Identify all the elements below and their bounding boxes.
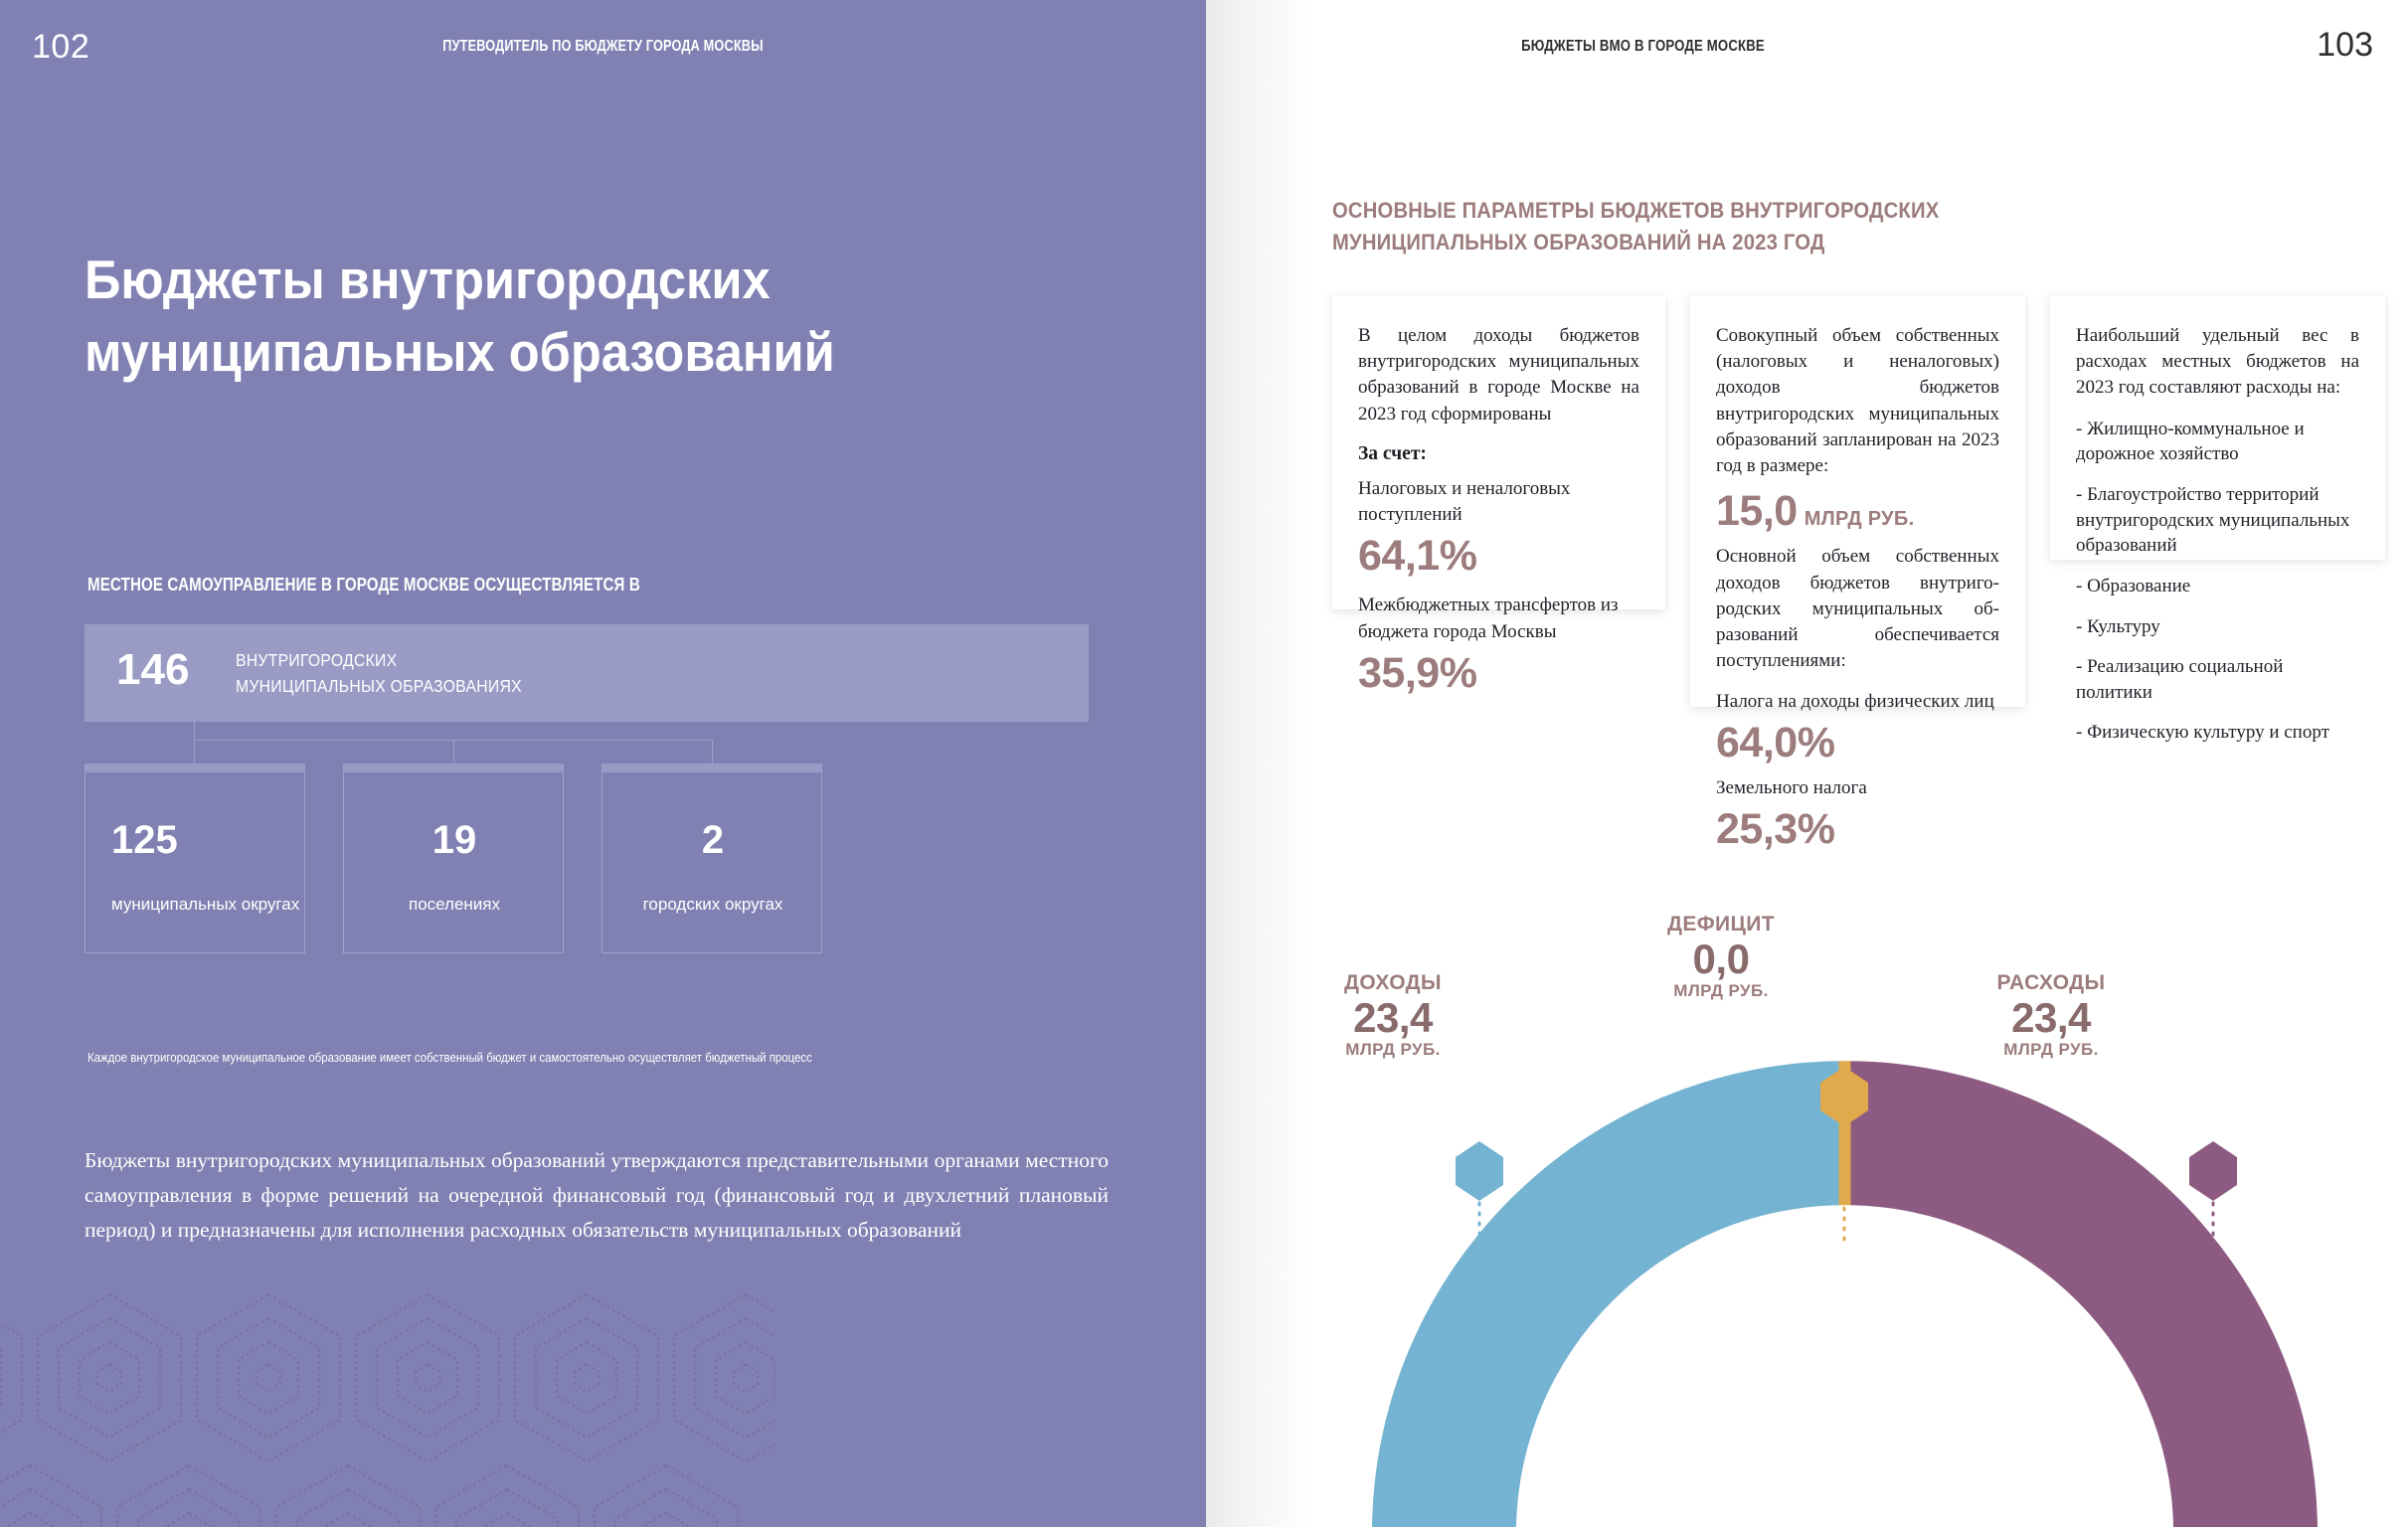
card3-bullet: - Жилищно-коммунальное и дорожное хозяйс… [2076, 417, 2359, 467]
running-head-right: Бюджеты ВМО в городе Москве [1206, 38, 2294, 56]
card-own-revenues: Совокупный объем соб­ственных (налоговых… [1690, 295, 2025, 707]
info-cards: В целом доходы бюджетов внутригородских … [1332, 295, 2366, 912]
node-number: 19 [344, 820, 565, 860]
card2-amount-row: 15,0млрд руб. [1716, 489, 1999, 534]
card2-item2-value: 25,3% [1716, 807, 1999, 852]
left-body-paragraph: Бюджеты внутригородских муниципальных об… [85, 1143, 1109, 1247]
top-node-label-line2: Муниципальных образованиях [236, 673, 522, 699]
top-node-label-line1: Внутригородских [236, 647, 522, 673]
diagram-node-poselenie: 19 поселениях [343, 771, 564, 953]
node-number: 125 [111, 820, 178, 860]
top-node-number: 146 [116, 648, 189, 692]
diagram-node-gorodskoy-okrug: 2 городских округах [602, 771, 822, 953]
card3-bullet: - Физическую культуру и спорт [2076, 720, 2359, 746]
chart-label-income-unit: МЛРД РУБ. [1274, 1040, 1512, 1060]
chart-label-deficit-name: ДЕФИЦИТ [1602, 913, 1840, 936]
connector-branch-2 [453, 740, 454, 763]
budget-donut-chart: ДОХОДЫ 23,4 МЛРД РУБ. ДЕФИЦИТ 0,0 МЛРД Р… [1206, 925, 2408, 1527]
card1-item2-label: Межбюджетных трансфертов из бюджета горо… [1358, 593, 1639, 644]
chart-label-expenditure-value: 23,4 [1932, 995, 2170, 1040]
card1-bold-label: За счет: [1358, 443, 1639, 465]
chart-label-expenditure-unit: МЛРД РУБ. [1932, 1040, 2170, 1060]
hexagon-marker-income [1456, 1141, 1503, 1201]
donut-slice-income [1372, 1061, 1839, 1527]
node-label: городских округах [602, 892, 823, 918]
card1-intro: В целом доходы бюджетов внутригородских … [1358, 323, 1639, 427]
card-total-income: В целом доходы бюджетов внутригородских … [1332, 295, 1665, 609]
page-number-right: 103 [2317, 26, 2373, 65]
card3-intro: Наибольший удельный вес в расходах местн… [2076, 323, 2359, 402]
chart-label-expenditure: РАСХОДЫ 23,4 МЛРД РУБ. [1932, 971, 2170, 1060]
card-main-expenditures: Наибольший удельный вес в расходах местн… [2050, 295, 2385, 560]
chart-label-income: ДОХОДЫ 23,4 МЛРД РУБ. [1274, 971, 1512, 1060]
node-label: муниципальных округах [111, 892, 300, 918]
chart-label-expenditure-name: РАСХОДЫ [1932, 971, 2170, 995]
section-heading: Основные параметры бюджетов внутригородс… [1332, 195, 1959, 258]
card2-item1-value: 64,0% [1716, 721, 1999, 765]
connector-branch-1 [194, 740, 195, 763]
chart-label-deficit-value: 0,0 [1602, 936, 1840, 981]
diagram-node-municipal-okrug: 125 муниципальных округах [85, 771, 305, 953]
card3-bullet: - Реализацию социальной политики [2076, 654, 2359, 705]
card3-bullet: - Образование [2076, 574, 2359, 599]
node-cap [343, 763, 564, 772]
chart-label-deficit: ДЕФИЦИТ 0,0 МЛРД РУБ. [1602, 913, 1840, 1001]
connector-branch-3 [712, 740, 713, 763]
chart-label-income-value: 23,4 [1274, 995, 1512, 1040]
card1-item2-value: 35,9% [1358, 651, 1639, 696]
card3-bullet: - Культуру [2076, 614, 2359, 640]
card1-item1-label: Налоговых и неналоговых поступлений [1358, 476, 1639, 528]
chart-label-income-name: ДОХОДЫ [1274, 971, 1512, 995]
page-title: Бюджеты внутригородских муниципальных об… [85, 244, 999, 388]
card2-intro2: Основной объем собственных доходов бюдже… [1716, 544, 1999, 674]
diagram-caption: Каждое внутригородское муниципальное обр… [87, 1049, 980, 1067]
card2-amount-unit: млрд руб. [1805, 508, 1915, 530]
card2-amount: 15,0 [1716, 487, 1798, 535]
running-head-left: Путеводитель по бюджету города Москвы [108, 38, 1098, 56]
hierarchy-diagram: 146 Внутригородских Муниципальных образо… [85, 624, 1089, 1022]
hexagon-pattern-decoration [0, 1229, 775, 1527]
card3-bullet: - Благоустройство террито­рий внутригоро… [2076, 482, 2359, 559]
hexagon-marker-expenditure [2189, 1141, 2237, 1201]
node-cap [85, 763, 305, 772]
donut-slice-expenditure [1851, 1061, 2319, 1527]
diagram-top-node: 146 Внутригородских Муниципальных образо… [85, 624, 1089, 722]
node-number: 2 [602, 820, 823, 860]
page-number-left: 102 [32, 28, 89, 67]
card1-item1-value: 64,1% [1358, 534, 1639, 579]
right-page: 103 Бюджеты ВМО в городе Москве Основные… [1206, 0, 2408, 1527]
top-node-label: Внутригородских Муниципальных образовани… [236, 647, 522, 700]
left-page: 102 Путеводитель по бюджету города Москв… [0, 0, 1206, 1527]
chart-label-deficit-unit: МЛРД РУБ. [1602, 981, 1840, 1001]
section-subhead: Местное самоуправление в городе Москве о… [87, 575, 940, 595]
card2-intro: Совокупный объем соб­ственных (налоговых… [1716, 323, 1999, 479]
node-label: поселениях [344, 892, 565, 918]
card2-item2-label: Земельного налога [1716, 775, 1999, 801]
node-cap [602, 763, 822, 772]
card2-item1-label: Налога на доходы физических лиц [1716, 689, 1999, 715]
